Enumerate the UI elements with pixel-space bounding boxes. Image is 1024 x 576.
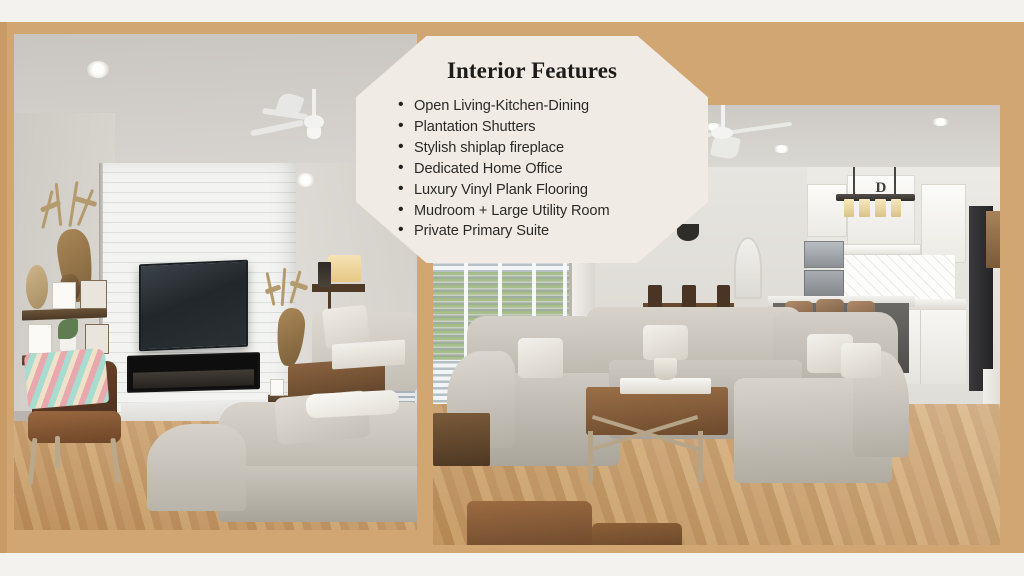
knit-throw-blanket bbox=[24, 348, 109, 409]
chandelier-rod bbox=[894, 167, 896, 194]
picture-frame bbox=[80, 280, 106, 310]
chandelier-bulb bbox=[859, 199, 869, 217]
list-item: Luxury Vinyl Plank Flooring bbox=[414, 180, 708, 201]
dining-chair bbox=[682, 285, 696, 307]
throw-pillow bbox=[518, 338, 563, 378]
linear-electric-fireplace bbox=[127, 352, 260, 392]
leather-accent-chair bbox=[592, 523, 683, 545]
cabinet-seam bbox=[920, 310, 921, 384]
ottoman-leg bbox=[588, 431, 593, 484]
arched-mirror bbox=[734, 237, 762, 299]
interior-features-card: Interior Features Open Living-Kitchen-Di… bbox=[356, 36, 708, 263]
microwave bbox=[804, 241, 844, 267]
ceiling-fan bbox=[264, 89, 365, 168]
chandelier-bulb bbox=[844, 199, 854, 217]
ottoman-x-base bbox=[580, 431, 733, 484]
white-shaker-cabinets bbox=[921, 184, 966, 263]
sofa-arm bbox=[147, 424, 246, 510]
chandelier-bulb bbox=[875, 199, 885, 217]
chair-seat bbox=[28, 411, 121, 443]
chair-leg bbox=[55, 436, 60, 468]
chair-leg bbox=[110, 438, 120, 483]
list-item: Open Living-Kitchen-Dining bbox=[414, 96, 708, 117]
decor-tray bbox=[620, 378, 711, 394]
fan-motor-housing bbox=[304, 115, 324, 129]
fan-downrod bbox=[721, 105, 725, 128]
chair-leg bbox=[27, 438, 37, 485]
decor-vase bbox=[654, 358, 677, 380]
dining-chair bbox=[717, 285, 731, 307]
list-item: Mudroom + Large Utility Room bbox=[414, 201, 708, 222]
list-item: Stylish shiplap fireplace bbox=[414, 138, 708, 159]
list-item: Plantation Shutters bbox=[414, 117, 708, 138]
sectional-sofa bbox=[147, 391, 417, 530]
linear-chandelier bbox=[836, 167, 915, 220]
decor-bottle bbox=[318, 262, 331, 287]
table-lamp bbox=[328, 255, 360, 282]
leather-accent-chair bbox=[467, 501, 592, 545]
chandelier-rod bbox=[853, 167, 855, 194]
fan-light-kit bbox=[307, 128, 321, 138]
mat-left-edge-shade bbox=[0, 22, 7, 553]
fan-downrod bbox=[312, 89, 316, 116]
sofa-base bbox=[218, 466, 417, 522]
ottoman-leg bbox=[698, 431, 703, 484]
tile-backsplash bbox=[841, 255, 954, 299]
recessed-light bbox=[87, 61, 109, 78]
antler bbox=[265, 285, 281, 295]
deer-head bbox=[275, 307, 307, 368]
antler bbox=[68, 181, 78, 226]
recessed-light bbox=[296, 173, 315, 187]
fan-blade bbox=[730, 121, 792, 134]
picture-frame bbox=[28, 324, 52, 354]
chandelier-bulb bbox=[891, 199, 901, 217]
wall-art bbox=[986, 211, 1000, 268]
picture-frame bbox=[52, 282, 76, 309]
card-title: Interior Features bbox=[356, 58, 708, 84]
fireplace-ember-bed bbox=[133, 369, 254, 388]
mounted-tv bbox=[139, 260, 248, 351]
features-list: Open Living-Kitchen-Dining Plantation Sh… bbox=[356, 96, 708, 242]
hood-mantel-shelf bbox=[841, 244, 920, 255]
antler bbox=[280, 268, 285, 306]
dining-chair bbox=[648, 285, 662, 307]
list-item: Dedicated Home Office bbox=[414, 159, 708, 180]
deer-head-mount bbox=[264, 272, 316, 366]
antler bbox=[77, 189, 94, 226]
throw-pillow bbox=[643, 325, 688, 360]
decor-tray bbox=[332, 339, 405, 369]
side-table bbox=[433, 413, 490, 466]
throw-pillow bbox=[841, 343, 881, 378]
list-item: Private Primary Suite bbox=[414, 221, 708, 242]
